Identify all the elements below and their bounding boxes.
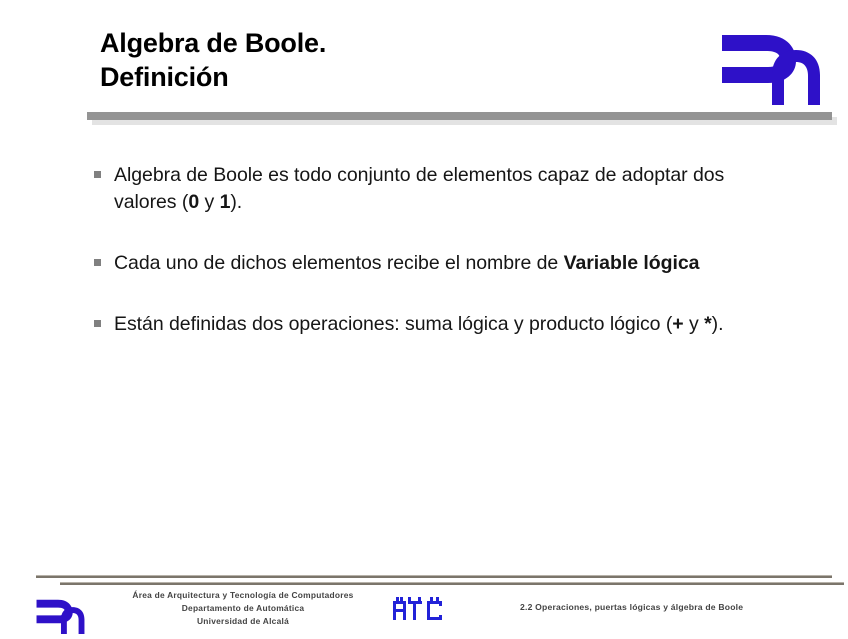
- square-bullet-icon: [94, 171, 101, 178]
- bullet-list: Algebra de Boole es todo conjunto de ele…: [93, 162, 753, 338]
- bullet-text-2: Están definidas dos operaciones: suma ló…: [114, 311, 753, 338]
- title-line-1: Algebra de Boole.: [100, 26, 700, 60]
- atc-logo-icon: [392, 597, 446, 623]
- square-bullet-icon: [94, 259, 101, 266]
- title-line-2: Definición: [100, 60, 700, 94]
- slide-canvas: Algebra de Boole. Definición Algebra de …: [0, 0, 848, 636]
- title-divider-bar: [87, 112, 837, 128]
- footer-divider-bottom: [60, 582, 844, 585]
- list-item: Algebra de Boole es todo conjunto de ele…: [93, 162, 753, 216]
- bullet-text-1: Cada uno de dichos elementos recibe el n…: [114, 250, 753, 277]
- footer-brand-logo-icon: [31, 589, 89, 634]
- footer-line-2: Departamento de Automática: [88, 602, 398, 615]
- square-bullet-icon: [94, 320, 101, 327]
- title-divider-bar-fill: [87, 112, 832, 120]
- footer-chapter-text: 2.2 Operaciones, puertas lógicas y álgeb…: [520, 602, 840, 612]
- page-title: Algebra de Boole. Definición: [100, 26, 700, 94]
- footer-line-1: Área de Arquitectura y Tecnología de Com…: [88, 589, 398, 602]
- footer-department-text: Área de Arquitectura y Tecnología de Com…: [88, 589, 398, 628]
- brand-logo-icon: [714, 13, 826, 105]
- list-item: Están definidas dos operaciones: suma ló…: [93, 311, 753, 338]
- footer-divider-top: [36, 575, 832, 578]
- footer-line-3: Universidad de Alcalá: [88, 615, 398, 628]
- bullet-text-0: Algebra de Boole es todo conjunto de ele…: [114, 162, 753, 216]
- list-item: Cada uno de dichos elementos recibe el n…: [93, 250, 753, 277]
